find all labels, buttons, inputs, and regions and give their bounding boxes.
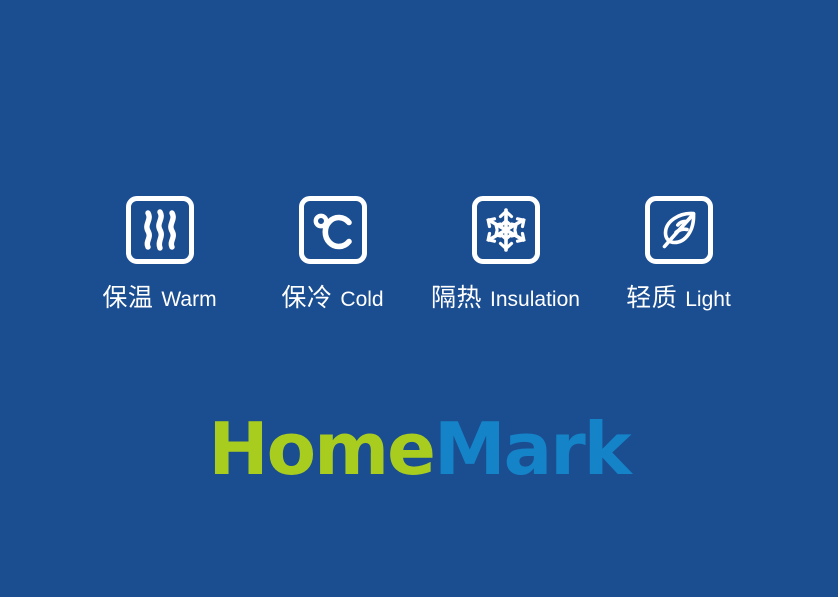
brand-logo: HomeMark — [0, 413, 838, 485]
feature-label-cn: 轻质 — [626, 285, 677, 310]
feature-label-cn: 保温 — [102, 285, 153, 310]
feature-item-cold: 保冷 Cold — [246, 196, 419, 310]
feature-label-cold: 保冷 Cold — [281, 285, 383, 310]
feature-label-light: 轻质 Light — [626, 285, 731, 310]
feature-label-insulation: 隔热 Insulation — [431, 285, 580, 310]
heat-waves-icon — [126, 196, 194, 264]
feather-leaf-icon — [645, 196, 713, 264]
snowflake-icon — [472, 196, 540, 264]
feature-item-light: 轻质 Light — [592, 196, 765, 310]
feature-label-cn: 隔热 — [431, 285, 482, 310]
feature-label-en: Cold — [340, 289, 383, 310]
feature-row: 保温 Warm 保冷 Cold — [0, 196, 838, 326]
celsius-degree-icon — [299, 196, 367, 264]
feature-label-en: Warm — [161, 289, 216, 310]
poster-canvas: 保温 Warm 保冷 Cold — [0, 0, 838, 597]
feature-label-en: Insulation — [490, 289, 580, 310]
brand-logo-mark: Mark — [434, 407, 630, 491]
feature-label-en: Light — [685, 289, 731, 310]
feature-label-cn: 保冷 — [281, 285, 332, 310]
feature-item-warm: 保温 Warm — [73, 196, 246, 310]
feature-item-insulation: 隔热 Insulation — [419, 196, 592, 310]
feature-label-warm: 保温 Warm — [102, 285, 216, 310]
brand-logo-home: Home — [208, 407, 434, 491]
